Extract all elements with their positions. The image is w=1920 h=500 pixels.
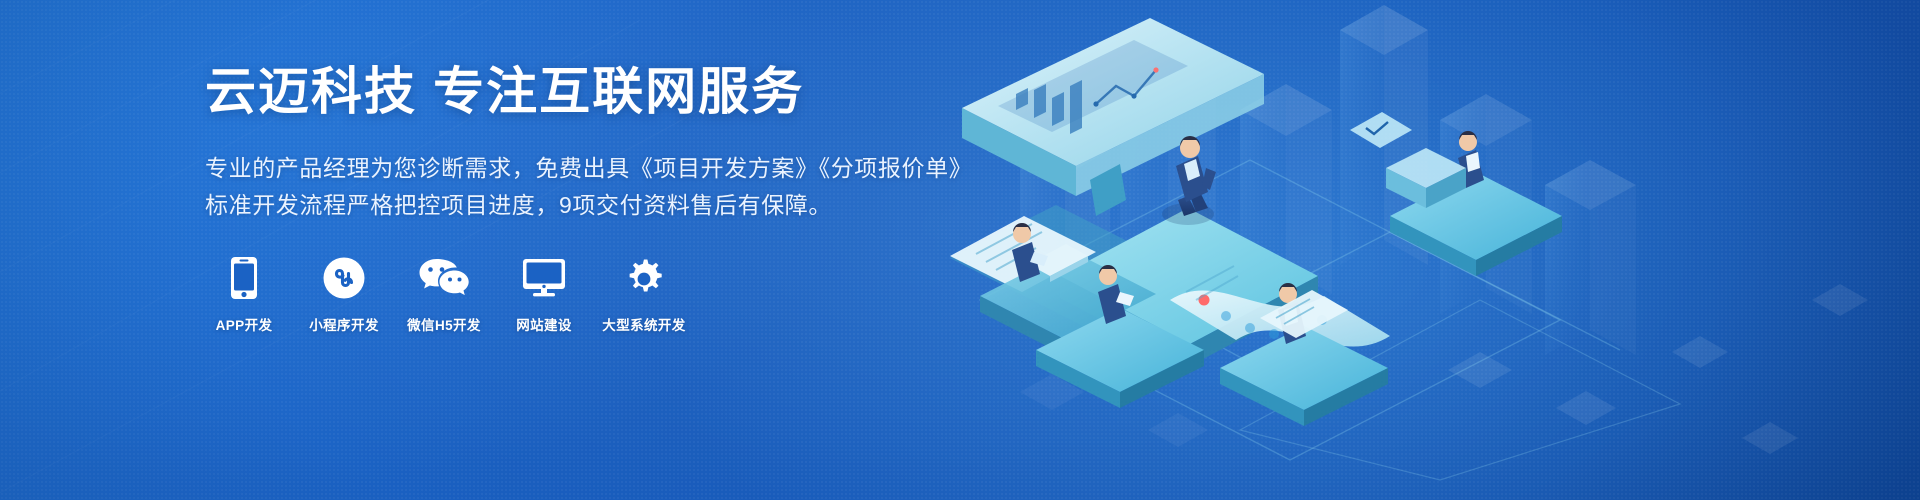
mobile-phone-icon [230, 256, 258, 300]
subtitle-line-2: 标准开发流程严格把控项目进度，9项交付资料售后有保障。 [205, 187, 965, 224]
service-item-website[interactable]: 网站建设 [505, 256, 583, 334]
service-item-wechat-h5[interactable]: 微信H5开发 [405, 256, 483, 334]
banner-content: 云迈科技 专注互联网服务 专业的产品经理为您诊断需求，免费出具《项目开发方案》《… [205, 62, 965, 334]
service-item-app[interactable]: APP开发 [205, 256, 283, 334]
service-label: 微信H5开发 [407, 314, 481, 334]
subtitle-line-1: 专业的产品经理为您诊断需求，免费出具《项目开发方案》《分项报价单》 [205, 150, 965, 187]
page-title: 云迈科技 专注互联网服务 [205, 62, 965, 122]
illustration-isometric-team-dashboard [920, 0, 1920, 500]
wechat-icon [418, 256, 470, 300]
service-item-mini-program[interactable]: 小程序开发 [305, 256, 383, 334]
hero-banner: 云迈科技 专注互联网服务 专业的产品经理为您诊断需求，免费出具《项目开发方案》《… [0, 0, 1920, 500]
service-label: 网站建设 [516, 314, 572, 334]
service-item-large-system[interactable]: 大型系统开发 [605, 256, 683, 334]
mini-program-icon [323, 256, 365, 300]
service-label: 大型系统开发 [602, 314, 685, 334]
service-label: APP开发 [216, 314, 273, 334]
service-label: 小程序开发 [309, 314, 379, 334]
banner-subtitle: 专业的产品经理为您诊断需求，免费出具《项目开发方案》《分项报价单》 标准开发流程… [205, 150, 965, 224]
desktop-monitor-icon [522, 256, 566, 300]
service-list: APP开发 小程序开发 [205, 256, 965, 334]
gear-icon [623, 256, 665, 300]
